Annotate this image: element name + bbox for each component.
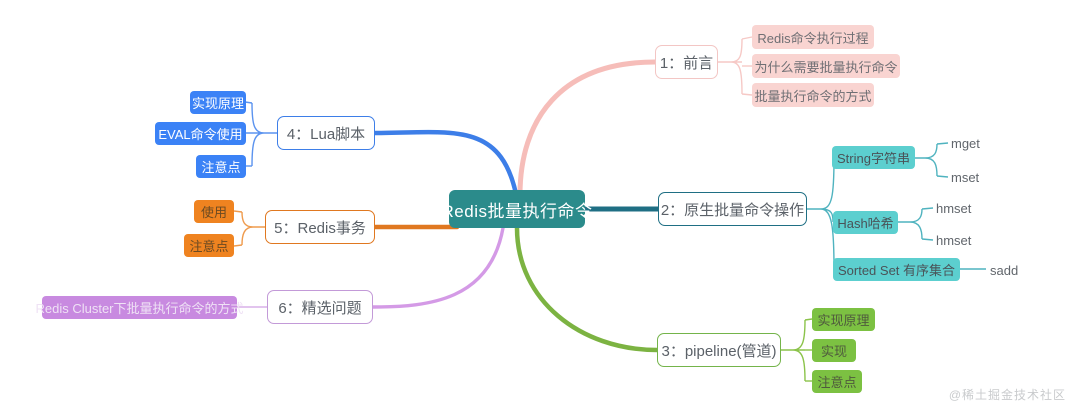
child-label-3-0: 实现原理 <box>818 310 870 329</box>
link-b5-c0 <box>234 211 242 212</box>
child-label-6-0: Redis Cluster下批量执行命令的方式 <box>35 298 243 317</box>
child-node-3-1[interactable]: 实现 <box>812 339 856 362</box>
branch-node-5[interactable]: 5：Redis事务 <box>265 210 375 244</box>
child-node-4-0[interactable]: 实现原理 <box>190 91 246 114</box>
child-node-3-2[interactable]: 注意点 <box>812 370 862 393</box>
child-label-2-1: Hash哈希 <box>837 213 893 232</box>
leaf-label-hmset-1: hmset <box>936 201 971 216</box>
branch-label-3: 3：pipeline(管道) <box>661 340 776 361</box>
link-b5-children <box>242 212 265 245</box>
child-label-1-1: 为什么需要批量执行命令 <box>755 57 898 76</box>
child-label-4-0: 实现原理 <box>192 93 244 112</box>
leaf-node-mget[interactable]: mget <box>951 133 1001 153</box>
child-node-5-0[interactable]: 使用 <box>194 200 234 223</box>
leaf-label-mset: mset <box>951 170 979 185</box>
link-b1-children <box>718 39 742 94</box>
link-hash-leaves <box>898 209 922 239</box>
child-label-5-0: 使用 <box>201 202 227 221</box>
child-node-3-0[interactable]: 实现原理 <box>812 308 875 331</box>
link-root-b4 <box>375 132 516 194</box>
child-node-2-2[interactable]: Sorted Set 有序集合 <box>833 258 960 281</box>
leaf-label-sadd: sadd <box>990 263 1018 278</box>
child-label-1-2: 批量执行命令的方式 <box>755 86 872 105</box>
link-b3-c0 <box>805 319 812 320</box>
link-leaf-hmset1 <box>922 208 933 209</box>
link-b4-children <box>252 103 277 166</box>
link-leaf-mget <box>937 143 948 144</box>
branch-node-2[interactable]: 2：原生批量命令操作 <box>658 192 807 226</box>
child-node-4-2[interactable]: 注意点 <box>196 155 246 178</box>
child-label-1-0: Redis命令执行过程 <box>757 28 868 47</box>
link-string-leaves <box>915 144 937 176</box>
child-node-2-0[interactable]: String字符串 <box>832 146 915 169</box>
leaf-node-hmset-1[interactable]: hmset <box>936 198 991 218</box>
leaf-node-sadd[interactable]: sadd <box>990 260 1040 280</box>
child-node-1-0[interactable]: Redis命令执行过程 <box>752 25 874 49</box>
child-label-2-0: String字符串 <box>837 148 910 167</box>
child-label-4-2: 注意点 <box>202 157 241 176</box>
branch-label-1: 1：前言 <box>660 52 713 73</box>
watermark: @稀土掘金技术社区 <box>949 386 1066 403</box>
leaf-label-mget: mget <box>951 136 980 151</box>
link-b3-children <box>781 320 805 381</box>
mindmap-canvas: Redis批量执行命令 1：前言 Redis命令执行过程 为什么需要批量执行命令… <box>0 0 1080 411</box>
child-node-2-1[interactable]: Hash哈希 <box>833 211 898 234</box>
leaf-node-mset[interactable]: mset <box>951 167 1001 187</box>
child-node-1-2[interactable]: 批量执行命令的方式 <box>752 83 874 107</box>
link-leaf-hmset2 <box>922 239 933 240</box>
link-b2-children <box>807 158 834 269</box>
link-b5-c1 <box>234 245 242 246</box>
branch-node-6[interactable]: 6：精选问题 <box>267 290 373 324</box>
branch-node-3[interactable]: 3：pipeline(管道) <box>657 333 781 367</box>
child-node-1-1[interactable]: 为什么需要批量执行命令 <box>752 54 900 78</box>
child-node-5-1[interactable]: 注意点 <box>184 234 234 257</box>
link-b4-c0 <box>245 102 252 103</box>
child-label-5-1: 注意点 <box>190 236 229 255</box>
branch-label-6: 6：精选问题 <box>278 297 361 318</box>
child-label-2-2: Sorted Set 有序集合 <box>838 260 955 279</box>
child-node-4-1[interactable]: EVAL命令使用 <box>155 122 246 145</box>
link-root-b3 <box>517 228 657 350</box>
leaf-label-hmset-2: hmset <box>936 233 971 248</box>
branch-label-5: 5：Redis事务 <box>274 217 366 238</box>
child-label-4-1: EVAL命令使用 <box>158 124 242 143</box>
child-label-3-2: 注意点 <box>818 372 857 391</box>
branch-node-1[interactable]: 1：前言 <box>655 45 718 79</box>
branch-label-2: 2：原生批量命令操作 <box>661 199 804 220</box>
leaf-node-hmset-2[interactable]: hmset <box>936 230 991 250</box>
branch-label-4: 4：Lua脚本 <box>287 123 365 144</box>
child-label-3-1: 实现 <box>821 341 847 360</box>
link-leaf-mset <box>937 176 948 177</box>
link-root-b1 <box>520 62 655 195</box>
child-node-6-0[interactable]: Redis Cluster下批量执行命令的方式 <box>42 296 237 319</box>
root-node[interactable]: Redis批量执行命令 <box>449 190 585 228</box>
link-b1-c0 <box>742 37 752 39</box>
link-root-b6 <box>373 228 503 307</box>
branch-node-4[interactable]: 4：Lua脚本 <box>277 116 375 150</box>
root-label: Redis批量执行命令 <box>442 197 593 222</box>
link-b1-c2 <box>742 94 752 95</box>
